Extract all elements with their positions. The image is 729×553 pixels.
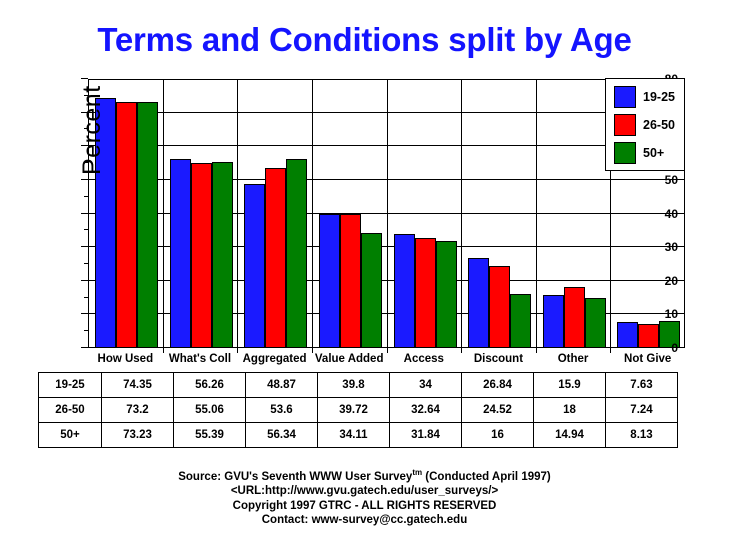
bar-50-Access	[436, 241, 457, 348]
chart-footer: Source: GVU's Seventh WWW User Surveytm …	[0, 466, 729, 528]
y-axis-tick-label: 30	[665, 241, 678, 253]
legend-label: 19-25	[643, 90, 675, 104]
footer-source-line: Source: GVU's Seventh WWW User Surveytm …	[0, 466, 729, 484]
bar-1925-Aggregated	[244, 184, 265, 348]
gridline-vertical	[237, 79, 238, 348]
x-axis-category-label: Access	[387, 353, 462, 365]
bar-2650-ValueAdded	[340, 214, 361, 348]
bar-50-Other	[585, 298, 606, 348]
y-axis-title: Percent	[78, 85, 107, 175]
plot-area: How UsedWhat's CollAggregatedValue Added…	[88, 79, 685, 348]
bar-1925-Other	[543, 295, 564, 348]
y-axis-tick-major	[81, 213, 88, 214]
table-cell: 56.34	[246, 423, 318, 448]
y-axis-tick-minor	[84, 330, 88, 331]
table-cell: 56.26	[174, 373, 246, 398]
bar-50-ValueAdded	[361, 233, 382, 348]
table-cell: 32.64	[390, 398, 462, 423]
y-axis-tick-minor	[84, 196, 88, 197]
gridline-vertical	[536, 79, 537, 348]
table-cell: 8.13	[606, 423, 678, 448]
x-axis-category-label: Other	[536, 353, 611, 365]
x-axis-category-label: Value Added	[312, 353, 387, 365]
table-cell: 55.39	[174, 423, 246, 448]
footer-url: <URL:http://www.gvu.gatech.edu/user_surv…	[0, 484, 729, 499]
gridline-vertical	[387, 79, 388, 348]
x-axis-category-label: What's Coll	[163, 353, 238, 365]
bar-1925-Access	[394, 234, 415, 348]
gridline-vertical	[312, 79, 313, 348]
bar-1925-Discount	[468, 258, 489, 348]
bar-2650-Access	[415, 238, 436, 348]
table-row: 19-2574.3556.2648.8739.83426.8415.97.63	[39, 373, 678, 398]
y-axis-tick-minor	[84, 263, 88, 264]
table-cell: 73.2	[102, 398, 174, 423]
y-axis-tick-label: 0	[671, 342, 678, 354]
bar-1925-NotGive	[617, 322, 638, 348]
x-axis-category-label: How Used	[88, 353, 163, 365]
footer-source-suffix: (Conducted April 1997)	[422, 471, 551, 483]
y-axis-tick-major	[81, 280, 88, 281]
x-axis-category-label: Aggregated	[237, 353, 312, 365]
table-row-header: 19-25	[39, 373, 102, 398]
y-axis-tick-major	[81, 179, 88, 180]
legend: 19-2526-5050+	[605, 78, 685, 171]
bar-2650-HowUsed	[116, 102, 137, 348]
bar-2650-NotGive	[638, 324, 659, 348]
y-axis-tick-label: 20	[665, 275, 678, 287]
bar-2650-WhatsColl	[191, 163, 212, 348]
x-axis-category-label: Discount	[461, 353, 536, 365]
bar-2650-Other	[564, 287, 585, 348]
bar-1925-ValueAdded	[319, 214, 340, 348]
footer-copyright: Copyright 1997 GTRC - ALL RIGHTS RESERVE…	[0, 499, 729, 514]
y-axis-tick-minor	[84, 229, 88, 230]
table-cell: 18	[534, 398, 606, 423]
table-row-header: 50+	[39, 423, 102, 448]
legend-swatch-icon	[614, 142, 636, 164]
table-cell: 14.94	[534, 423, 606, 448]
bar-50-Aggregated	[286, 159, 307, 348]
table-cell: 7.63	[606, 373, 678, 398]
table-cell: 24.52	[462, 398, 534, 423]
legend-swatch-icon	[614, 86, 636, 108]
table-cell: 26.84	[462, 373, 534, 398]
bar-50-Discount	[510, 294, 531, 348]
data-table: 19-2574.3556.2648.8739.83426.8415.97.632…	[38, 372, 678, 448]
legend-swatch-icon	[614, 114, 636, 136]
table-cell: 55.06	[174, 398, 246, 423]
bar-50-WhatsColl	[212, 162, 233, 348]
table-cell: 34	[390, 373, 462, 398]
legend-label: 26-50	[643, 118, 675, 132]
bar-2650-Aggregated	[265, 168, 286, 348]
bar-1925-WhatsColl	[170, 159, 191, 348]
y-axis-tick-minor	[84, 297, 88, 298]
y-axis-tick-label: 10	[665, 308, 678, 320]
table-cell: 73.23	[102, 423, 174, 448]
table-cell: 31.84	[390, 423, 462, 448]
table-row-header: 26-50	[39, 398, 102, 423]
table-cell: 7.24	[606, 398, 678, 423]
y-axis-tick-major	[81, 78, 88, 79]
y-axis-tick-major	[81, 347, 88, 348]
footer-trademark: tm	[412, 468, 422, 477]
table-row: 50+73.2355.3956.3434.1131.841614.948.13	[39, 423, 678, 448]
table-cell: 48.87	[246, 373, 318, 398]
table-cell: 15.9	[534, 373, 606, 398]
table-cell: 16	[462, 423, 534, 448]
y-axis-tick-major	[81, 313, 88, 314]
gridline-vertical	[461, 79, 462, 348]
table-cell: 39.8	[318, 373, 390, 398]
page-title: Terms and Conditions split by Age	[0, 21, 729, 59]
bar-50-HowUsed	[137, 102, 158, 348]
gridline-vertical	[163, 79, 164, 348]
table-row: 26-5073.255.0653.639.7232.6424.52187.24	[39, 398, 678, 423]
footer-contact: Contact: www-survey@cc.gatech.edu	[0, 513, 729, 528]
table-cell: 53.6	[246, 398, 318, 423]
legend-label: 50+	[643, 146, 664, 160]
table-cell: 34.11	[318, 423, 390, 448]
table-cell: 74.35	[102, 373, 174, 398]
y-axis-tick-label: 50	[665, 174, 678, 186]
bar-2650-Discount	[489, 266, 510, 348]
y-axis-tick-label: 40	[665, 208, 678, 220]
y-axis-tick-major	[81, 246, 88, 247]
table-cell: 39.72	[318, 398, 390, 423]
footer-source-text: Source: GVU's Seventh WWW User Survey	[178, 471, 412, 483]
